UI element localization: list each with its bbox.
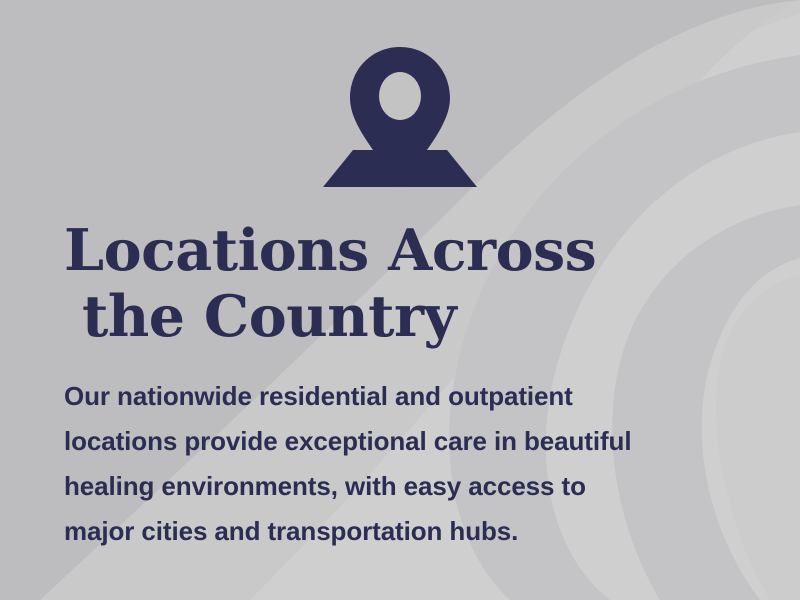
description-line-2: locations provide exceptional care in be… [64, 419, 704, 464]
headline-line-1: Locations Across [64, 218, 724, 284]
hero-text-content: Locations Across the Country Our nationw… [64, 218, 724, 554]
page-title: Locations Across the Country [64, 218, 724, 350]
description-line-3: healing environments, with easy access t… [64, 464, 704, 509]
description-line-1: Our nationwide residential and outpatien… [64, 374, 704, 419]
hero-icon-container [0, 44, 800, 190]
locations-hero-banner: Locations Across the Country Our nationw… [0, 0, 800, 600]
headline-line-2: the Country [64, 284, 724, 350]
hero-description: Our nationwide residential and outpatien… [64, 374, 704, 554]
description-line-4: major cities and transportation hubs. [64, 509, 704, 554]
map-pin-location-icon [317, 44, 483, 190]
